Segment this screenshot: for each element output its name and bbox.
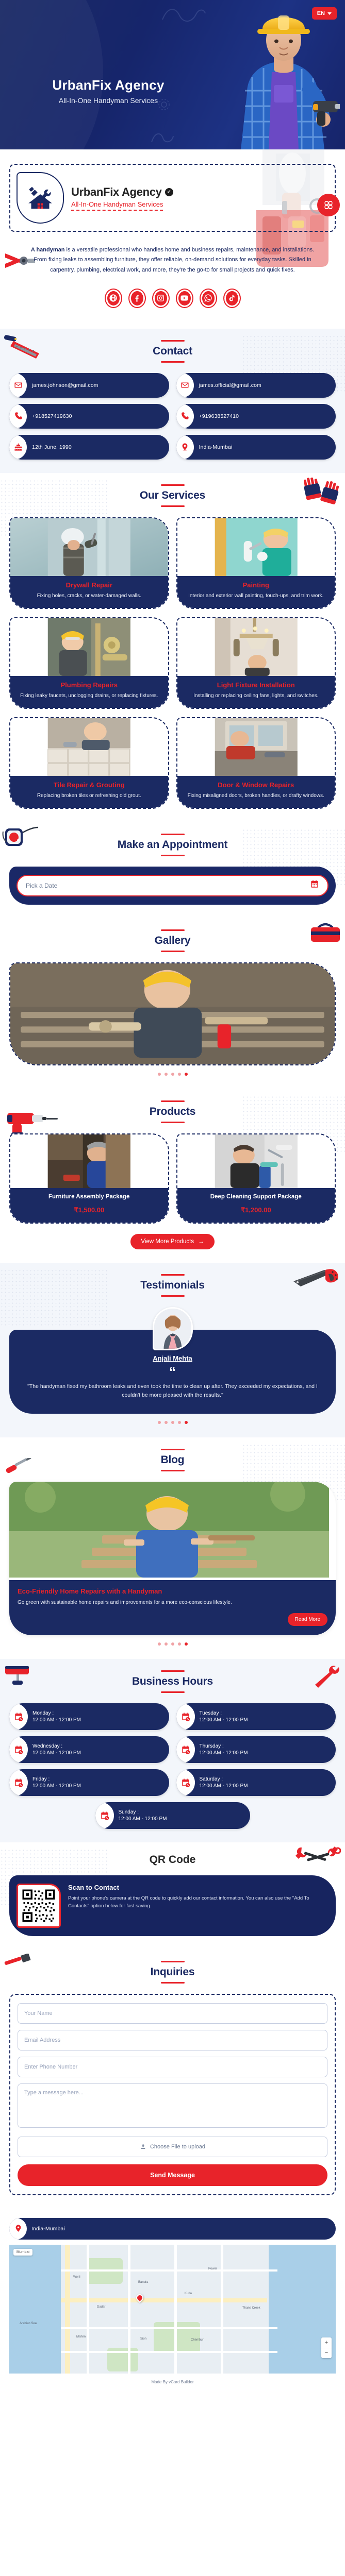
contact-phone-1[interactable]: +918527419630: [9, 404, 169, 429]
title-rule-top: [161, 1274, 185, 1276]
qr-code-image[interactable]: [17, 1884, 61, 1928]
map-label: Chembur: [191, 2338, 204, 2342]
service-desc: Fixing misaligned doors, broken handles,…: [183, 792, 330, 800]
map-road: [61, 2327, 277, 2329]
contact-location[interactable]: India-Mumbai: [176, 435, 336, 460]
blog-post-desc: Go green with sustainable home repairs a…: [18, 1599, 327, 1607]
service-desc: Replacing broken tiles or refreshing old…: [15, 792, 163, 800]
blog-carousel-dots: [9, 1642, 336, 1646]
business-hour-row[interactable]: Monday : 12:00 AM - 12:00 PM: [9, 1703, 169, 1730]
business-hour-row[interactable]: Friday : 12:00 AM - 12:00 PM: [9, 1769, 169, 1796]
map-canvas[interactable]: Worli Dadar Mahim Bandra Sion Kurla Chem…: [9, 2245, 336, 2374]
message-field[interactable]: [18, 2083, 327, 2128]
gallery-title: Gallery: [9, 935, 336, 947]
service-card[interactable]: Door & Window Repairs Fixing misaligned …: [176, 717, 336, 809]
contact-title-wrap: Contact: [9, 340, 336, 363]
blog-post-title: Eco-Friendly Home Repairs with a Handyma…: [18, 1587, 327, 1595]
testimonial-text: "The handyman fixed my bathroom leaks an…: [21, 1382, 324, 1400]
about-frame: UrbanFix Agency ✔ All-In-One Handyman Se…: [9, 164, 336, 232]
blog-title-wrap: Blog: [9, 1449, 336, 1471]
carousel-dot[interactable]: [158, 1073, 161, 1076]
business-hour-time: 12:00 AM - 12:00 PM: [119, 1816, 167, 1822]
business-hour-day: Thursday :: [200, 1743, 248, 1749]
service-desc: Fixing holes, cracks, or water-damaged w…: [15, 592, 163, 600]
business-hour-row[interactable]: Tuesday : 12:00 AM - 12:00 PM: [176, 1703, 336, 1730]
contact-phone-2[interactable]: +919638527410: [176, 404, 336, 429]
products-section: Products: [0, 1089, 345, 1263]
inquiries-section: Inquiries Choose File to upload Send Mes…: [0, 1950, 345, 2209]
calendar-icon[interactable]: [310, 879, 319, 891]
location-icon: [176, 435, 194, 460]
qr-shortcut-button[interactable]: [317, 194, 340, 216]
map-zoom-out-button[interactable]: −: [321, 2348, 332, 2358]
service-card[interactable]: Tile Repair & Grouting Replacing broken …: [9, 717, 169, 809]
services-title: Our Services: [9, 489, 336, 502]
map-road: [87, 2245, 89, 2374]
business-hours-sunday-wrap: Sunday : 12:00 AM - 12:00 PM: [9, 1802, 336, 1829]
phone-icon: [176, 404, 194, 429]
language-label: EN: [317, 10, 325, 16]
map-road: [61, 2269, 277, 2272]
name-field[interactable]: [18, 2003, 327, 2024]
business-hour-time: 12:00 AM - 12:00 PM: [200, 1783, 248, 1789]
carousel-dot[interactable]: [171, 1073, 174, 1076]
calendar-clock-icon: [176, 1703, 195, 1730]
title-rule-bottom: [161, 855, 185, 856]
squiggle-decor-2: [150, 129, 175, 145]
blog-card[interactable]: Eco-Friendly Home Repairs with a Handyma…: [9, 1482, 336, 1635]
products-actions: View More Products →: [9, 1234, 336, 1249]
business-hours-section: Business Hours Monday : 12:00 AM - 12:00…: [0, 1659, 345, 1842]
service-desc: Installing or replacing ceiling fans, li…: [183, 692, 330, 700]
brand-name: UrbanFix Agency: [71, 185, 162, 199]
door-window-repair-photo: [177, 718, 335, 776]
service-body: Painting Interior and exterior wall pain…: [177, 576, 335, 608]
testimonials-title: Testimonials: [9, 1279, 336, 1292]
inquiries-title: Inquiries: [9, 1966, 336, 1978]
arrow-right-icon: →: [198, 1239, 204, 1245]
youtube-icon[interactable]: [176, 289, 193, 308]
testimonial-author: Anjali Mehta: [21, 1354, 324, 1362]
products-title: Products: [9, 1106, 336, 1118]
product-card[interactable]: Furniture Assembly Package ₹1,500.00: [9, 1133, 169, 1224]
business-hour-texts: Wednesday : 12:00 AM - 12:00 PM: [32, 1743, 81, 1756]
map-zoom-controls: + −: [321, 2337, 332, 2358]
date-picker[interactable]: Pick a Date: [17, 875, 328, 896]
map-zoom-in-button[interactable]: +: [321, 2337, 332, 2348]
gallery-carousel-dots: [9, 1073, 336, 1076]
logo-badge: [17, 172, 64, 224]
appointment-title: Make an Appointment: [9, 839, 336, 851]
tile-repair-photo: [10, 718, 168, 776]
phone-icon: [9, 404, 27, 429]
facebook-icon[interactable]: [128, 289, 146, 308]
map-label: Sion: [140, 2337, 146, 2341]
qr-code-glyph: [21, 1888, 57, 1924]
map-label: Arabian Sea: [20, 2322, 37, 2325]
gallery-title-wrap: Gallery: [9, 929, 336, 952]
carousel-dot-active[interactable]: [185, 1073, 188, 1076]
business-hour-texts: Saturday : 12:00 AM - 12:00 PM: [200, 1776, 248, 1789]
business-hour-day: Monday :: [32, 1710, 81, 1716]
business-hour-texts: Monday : 12:00 AM - 12:00 PM: [32, 1710, 81, 1723]
qr-section: QR Code: [0, 1842, 345, 1950]
products-title-wrap: Products: [9, 1100, 336, 1123]
product-body: Deep Cleaning Support Package ₹1,200.00: [177, 1188, 335, 1223]
gallery-frame[interactable]: [9, 962, 336, 1065]
map-label: Bandra: [138, 2281, 148, 2284]
carousel-dot[interactable]: [178, 1421, 181, 1424]
title-rule-top: [161, 1100, 185, 1102]
business-hours-title-wrap: Business Hours: [9, 1670, 336, 1693]
service-image: [177, 518, 335, 576]
map-location-pill[interactable]: India-Mumbai: [9, 2218, 336, 2240]
contact-phone-1-value: +918527419630: [32, 413, 72, 419]
service-body: Door & Window Repairs Fixing misaligned …: [177, 776, 335, 808]
title-rule-bottom: [161, 951, 185, 952]
services-grid: Drywall Repair Fixing holes, cracks, or …: [9, 517, 336, 809]
carousel-dot[interactable]: [158, 1421, 161, 1424]
blog-title: Blog: [9, 1454, 336, 1466]
business-hour-texts: Tuesday : 12:00 AM - 12:00 PM: [200, 1710, 248, 1723]
qr-text-block: Scan to Contact Point your phone's camer…: [68, 1884, 328, 1910]
hero-text-block: UrbanFix Agency All-In-One Handyman Serv…: [0, 77, 217, 105]
light-fixture-photo: [177, 618, 335, 676]
carousel-dot[interactable]: [158, 1642, 161, 1646]
business-hour-texts: Sunday : 12:00 AM - 12:00 PM: [119, 1809, 167, 1822]
business-hour-time: 12:00 AM - 12:00 PM: [32, 1717, 81, 1723]
product-body: Furniture Assembly Package ₹1,500.00: [10, 1188, 168, 1223]
map-water-west: [9, 2245, 61, 2374]
map-label: Powai: [208, 2267, 217, 2270]
service-image: [177, 618, 335, 676]
product-price: ₹1,200.00: [182, 1206, 331, 1214]
carousel-dot[interactable]: [165, 1073, 168, 1076]
business-hour-row[interactable]: Sunday : 12:00 AM - 12:00 PM: [95, 1802, 250, 1829]
map-road: [221, 2245, 223, 2374]
qr-grid-icon: [324, 200, 333, 210]
appointment-section: Make an Appointment Pick a Date: [0, 822, 345, 918]
title-rule-top: [161, 484, 185, 486]
qr-section-title: QR Code: [9, 1854, 336, 1866]
calendar-clock-icon: [9, 1769, 28, 1796]
instagram-icon[interactable]: [152, 289, 170, 308]
birthday-icon: [9, 435, 27, 460]
service-desc: Interior and exterior wall painting, tou…: [183, 592, 330, 600]
service-card[interactable]: Drywall Repair Fixing holes, cracks, or …: [9, 517, 169, 609]
painting-photo: [177, 518, 335, 576]
about-description: A handyman is a versatile professional w…: [27, 245, 318, 275]
business-hour-row[interactable]: Wednesday : 12:00 AM - 12:00 PM: [9, 1736, 169, 1763]
testimonials-section: Testimonials Anjali Mehta “ "The handyma…: [0, 1263, 345, 1437]
product-name: Deep Cleaning Support Package: [182, 1193, 331, 1201]
about-description-body: is a versatile professional who handles …: [34, 247, 314, 273]
language-selector[interactable]: EN: [312, 7, 337, 20]
carousel-dot[interactable]: [165, 1642, 168, 1646]
business-hour-day: Saturday :: [200, 1776, 248, 1782]
service-name: Painting: [183, 581, 330, 589]
plumbing-repairs-photo: [10, 618, 168, 676]
contact-location-value: India-Mumbai: [199, 444, 233, 450]
deep-cleaning-photo: [177, 1134, 335, 1188]
map-label: Thane Creek: [242, 2307, 260, 2310]
qr-card: Scan to Contact Point your phone's camer…: [9, 1875, 336, 1936]
file-upload-label: Choose File to upload: [150, 2144, 205, 2150]
contact-section: Contact james.johnson@gmail.com james.of…: [0, 329, 345, 473]
title-rule-bottom: [161, 1691, 185, 1693]
map-highway: [61, 2298, 267, 2302]
title-rule-bottom: [161, 361, 185, 363]
file-upload-row[interactable]: Choose File to upload: [18, 2137, 327, 2157]
service-card[interactable]: Light Fixture Installation Installing or…: [176, 617, 336, 709]
email-field[interactable]: [18, 2030, 327, 2050]
calendar-clock-icon: [95, 1802, 114, 1829]
calendar-clock-icon: [9, 1736, 28, 1763]
service-name: Tile Repair & Grouting: [15, 781, 163, 789]
map-label: Worli: [73, 2276, 80, 2279]
service-card[interactable]: Plumbing Repairs Fixing leaky faucets, u…: [9, 617, 169, 709]
map-road: [61, 2351, 277, 2353]
contact-email-2[interactable]: james.official@gmail.com: [176, 373, 336, 398]
services-section: Our Services: [0, 473, 345, 822]
brand-block: UrbanFix Agency ✔ All-In-One Handyman Se…: [71, 185, 173, 211]
business-hour-time: 12:00 AM - 12:00 PM: [200, 1717, 248, 1723]
product-name: Furniture Assembly Package: [14, 1193, 164, 1201]
service-image: [177, 718, 335, 776]
carousel-dot-active[interactable]: [185, 1421, 188, 1424]
contact-grid: james.johnson@gmail.com james.official@g…: [9, 373, 336, 460]
phone-field[interactable]: [18, 2057, 327, 2077]
business-hour-time: 12:00 AM - 12:00 PM: [32, 1783, 81, 1789]
gallery-image: [10, 963, 335, 1064]
business-hour-time: 12:00 AM - 12:00 PM: [32, 1750, 81, 1756]
title-rule-bottom: [161, 1470, 185, 1471]
service-name: Plumbing Repairs: [15, 681, 163, 689]
service-body: Plumbing Repairs Fixing leaky faucets, u…: [10, 676, 168, 708]
hammer-wrench-house-logo-icon: [26, 183, 55, 212]
brand-tagline: All-In-One Handyman Services: [71, 200, 163, 211]
map-park: [154, 2322, 200, 2353]
furniture-assembly-photo: [10, 1134, 168, 1188]
testimonial-wrap: Anjali Mehta “ "The handyman fixed my ba…: [9, 1307, 336, 1413]
title-rule-bottom: [161, 1982, 185, 1984]
services-title-wrap: Our Services: [9, 484, 336, 507]
business-hour-row[interactable]: Thursday : 12:00 AM - 12:00 PM: [176, 1736, 336, 1763]
map-frame[interactable]: Worli Dadar Mahim Bandra Sion Kurla Chem…: [9, 2245, 336, 2374]
calendar-clock-icon: [176, 1769, 195, 1796]
footer-credit: Made By vCard Builder: [0, 2374, 345, 2392]
map-road: [174, 2245, 177, 2374]
service-body: Light Fixture Installation Installing or…: [177, 676, 335, 708]
title-rule-top: [161, 1670, 185, 1672]
title-rule-top: [161, 1961, 185, 1962]
hero-blob-decor: [0, 0, 103, 149]
service-name: Light Fixture Installation: [183, 681, 330, 689]
squiggle-decor: [160, 4, 206, 25]
service-body: Tile Repair & Grouting Replacing broken …: [10, 776, 168, 808]
view-more-products-button[interactable]: View More Products →: [130, 1234, 214, 1249]
service-image: [10, 618, 168, 676]
location-icon: [9, 2218, 27, 2240]
whatsapp-icon[interactable]: [200, 289, 217, 308]
chevron-down-icon: [327, 12, 332, 15]
appointment-box: Pick a Date: [9, 867, 336, 905]
read-more-button[interactable]: Read More: [288, 1613, 327, 1626]
about-description-lead: A handyman: [31, 247, 65, 253]
product-price: ₹1,500.00: [14, 1206, 164, 1214]
business-hour-row[interactable]: Saturday : 12:00 AM - 12:00 PM: [176, 1769, 336, 1796]
testimonial-carousel-dots: [9, 1421, 336, 1424]
business-hour-day: Tuesday :: [200, 1710, 248, 1716]
products-grid: Furniture Assembly Package ₹1,500.00: [9, 1133, 336, 1224]
calendar-clock-icon: [176, 1736, 195, 1763]
carousel-dot[interactable]: [178, 1073, 181, 1076]
business-hours-title: Business Hours: [9, 1675, 336, 1688]
business-hour-time: 12:00 AM - 12:00 PM: [200, 1750, 248, 1756]
avatar-photo: [154, 1309, 191, 1349]
map-highway: [65, 2245, 70, 2374]
contact-title: Contact: [9, 345, 336, 358]
quote-icon: “: [21, 1366, 324, 1377]
social-links: [9, 289, 336, 308]
blog-image: [9, 1482, 329, 1578]
title-rule-bottom: [161, 1122, 185, 1123]
service-desc: Fixing leaky faucets, unclogging drains,…: [15, 692, 163, 700]
map-label: Mahim: [76, 2335, 86, 2338]
gallery-section: Gallery: [0, 918, 345, 1089]
title-rule-top: [161, 929, 185, 931]
hero-banner: EN UrbanFix Agency All-In-One Handyman S…: [0, 0, 345, 149]
contact-email-1[interactable]: james.johnson@gmail.com: [9, 373, 169, 398]
title-rule-top: [161, 834, 185, 835]
handyman-hero-photo: [226, 0, 340, 149]
business-hour-day: Sunday :: [119, 1809, 167, 1815]
product-image: [177, 1134, 335, 1188]
date-picker-placeholder: Pick a Date: [26, 882, 57, 889]
verified-badge-icon: ✔: [165, 188, 173, 196]
qr-heading: Scan to Contact: [68, 1884, 328, 1891]
carousel-dot[interactable]: [178, 1642, 181, 1646]
map-section: India-Mumbai Worli Dadar Mahim: [0, 2209, 345, 2374]
business-hour-day: Friday :: [32, 1776, 81, 1782]
website-icon[interactable]: [105, 289, 122, 308]
hero-subtitle: All-In-One Handyman Services: [0, 96, 217, 105]
contact-email-1-value: james.johnson@gmail.com: [32, 382, 98, 388]
service-card[interactable]: Painting Interior and exterior wall pain…: [176, 517, 336, 609]
carousel-dot-active[interactable]: [185, 1642, 188, 1646]
map-label: Kurla: [185, 2292, 192, 2295]
product-card[interactable]: Deep Cleaning Support Package ₹1,200.00: [176, 1133, 336, 1224]
contact-birthday-value: 12th June, 1990: [32, 444, 72, 450]
carousel-dot[interactable]: [171, 1421, 174, 1424]
service-body: Drywall Repair Fixing holes, cracks, or …: [10, 576, 168, 608]
vcard-page: EN UrbanFix Agency All-In-One Handyman S…: [0, 0, 345, 2392]
business-hour-texts: Thursday : 12:00 AM - 12:00 PM: [200, 1743, 248, 1756]
send-message-button[interactable]: Send Message: [18, 2164, 327, 2186]
map-location-label: India-Mumbai: [31, 2226, 65, 2232]
contact-birthday[interactable]: 12th June, 1990: [9, 435, 169, 460]
business-hours-grid: Monday : 12:00 AM - 12:00 PM Tuesday : 1…: [9, 1703, 336, 1796]
inquiries-title-wrap: Inquiries: [9, 1961, 336, 1984]
service-image: [10, 518, 168, 576]
business-hour-texts: Friday : 12:00 AM - 12:00 PM: [32, 1776, 81, 1789]
tiktok-icon[interactable]: [223, 289, 241, 308]
testimonials-title-wrap: Testimonials: [9, 1274, 336, 1297]
service-name: Door & Window Repairs: [183, 781, 330, 789]
qr-description: Point your phone's camera at the QR code…: [68, 1894, 328, 1910]
contact-phone-2-value: +919638527410: [199, 413, 239, 419]
contact-email-2-value: james.official@gmail.com: [199, 382, 261, 388]
blog-body: Eco-Friendly Home Repairs with a Handyma…: [9, 1580, 336, 1635]
carousel-dot[interactable]: [165, 1421, 168, 1424]
map-label: Dadar: [97, 2306, 105, 2309]
title-rule-top: [161, 340, 185, 342]
email-icon: [9, 373, 27, 398]
carousel-dot[interactable]: [171, 1642, 174, 1646]
title-rule-bottom: [161, 1295, 185, 1297]
email-icon: [176, 373, 194, 398]
service-name: Drywall Repair: [15, 581, 163, 589]
business-hour-day: Wednesday :: [32, 1743, 81, 1749]
service-image: [10, 718, 168, 776]
drywall-repair-photo: [10, 518, 168, 576]
title-rule-top: [161, 1449, 185, 1450]
hero-title: UrbanFix Agency: [0, 77, 217, 93]
map-road: [128, 2245, 130, 2374]
appointment-title-wrap: Make an Appointment: [9, 834, 336, 856]
blog-section: Blog: [0, 1437, 345, 1659]
title-rule-bottom: [161, 505, 185, 507]
product-image: [10, 1134, 168, 1188]
testimonial-avatar: [153, 1307, 193, 1350]
view-more-products-label: View More Products: [141, 1239, 194, 1245]
inquiry-form: Choose File to upload Send Message: [9, 1994, 336, 2195]
upload-icon: [140, 2143, 146, 2150]
calendar-clock-icon: [9, 1703, 28, 1730]
map-area-badge: Mumbai: [13, 2249, 32, 2256]
about-section: UrbanFix Agency ✔ All-In-One Handyman Se…: [0, 149, 345, 329]
